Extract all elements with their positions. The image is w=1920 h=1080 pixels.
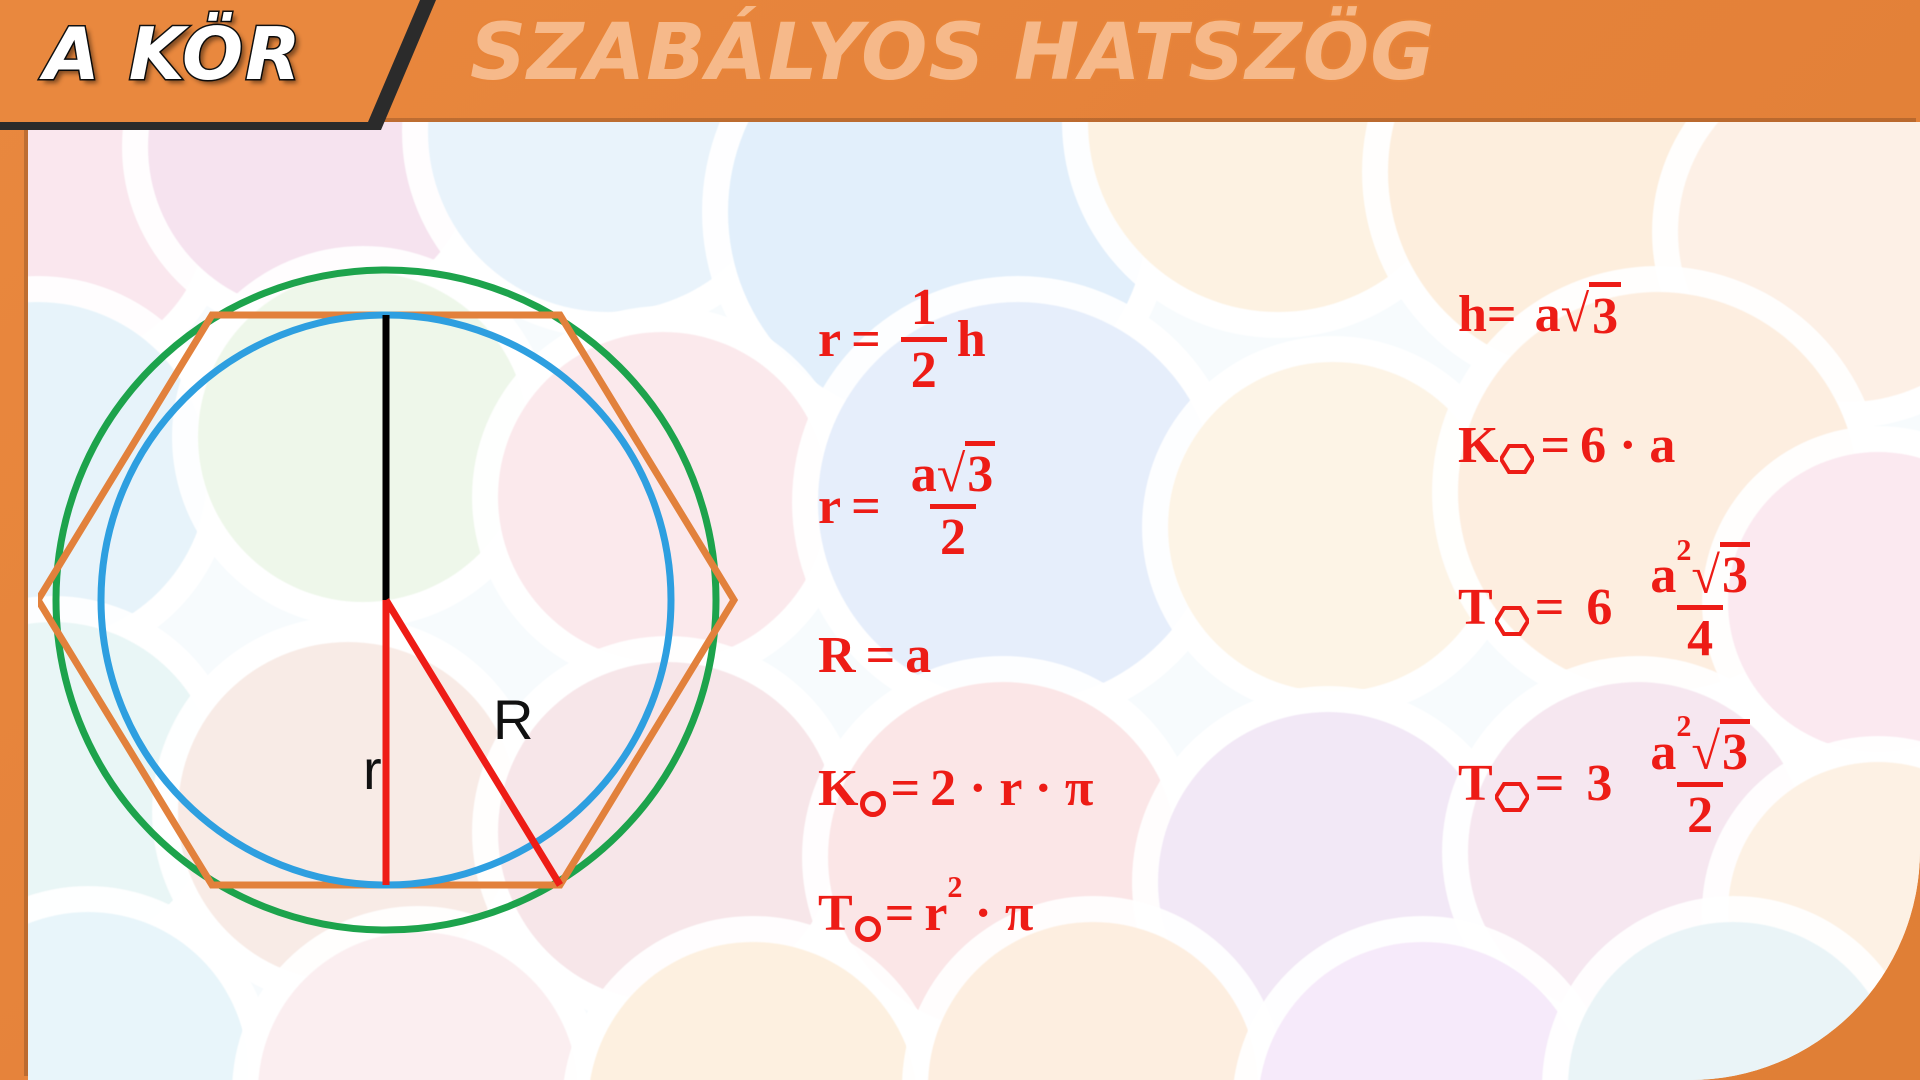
hexagon-formula-column: h = a√3 K = 6 · a — [1458, 282, 1920, 890]
formula-lhs-group: K — [1458, 416, 1540, 475]
formula-equals: = — [856, 626, 906, 685]
circle-subscript-icon — [860, 791, 886, 817]
radicand: 3 — [965, 441, 995, 503]
radicand: 3 — [1720, 542, 1750, 604]
formula-h-a-root3: h = a√3 — [1458, 282, 1920, 346]
formula-lhs-group: K — [818, 759, 890, 818]
formula-lhs: r — [818, 310, 841, 369]
radical-coefficient: a — [1517, 285, 1561, 344]
formula-K-hexagon: K = 6 · a — [1458, 416, 1920, 475]
formula-R-equals-a: R = a — [818, 626, 1238, 685]
slide-header: A KÖR SZABÁLYOS HATSZÖG — [0, 0, 1920, 128]
power-exponent: 2 — [947, 870, 962, 904]
hexagon-subscript-icon — [1500, 444, 1534, 474]
fraction-numerator: a√3 — [901, 449, 1006, 504]
formula-equals: = — [841, 310, 891, 369]
formula-lhs: K — [818, 759, 858, 818]
power-exponent: 2 — [1676, 533, 1691, 567]
fraction-numerator: a2√3 — [1640, 725, 1760, 781]
formula-lhs-group: T — [1458, 578, 1535, 637]
diagram-svg — [38, 192, 778, 1022]
formula-lhs: K — [1458, 416, 1498, 475]
formula-equals: = — [1540, 416, 1570, 475]
power-exponent: 2 — [1676, 709, 1691, 743]
label-R: R — [493, 687, 533, 752]
power-base-text: r — [924, 885, 947, 942]
formula-lhs: r — [818, 477, 841, 536]
power-base-text: a — [1650, 547, 1676, 604]
formula-rhs: a — [905, 626, 931, 685]
formula-rhs: 6 · a — [1570, 416, 1675, 475]
fraction-a2-root3-over-4: a2√3 4 — [1640, 549, 1760, 665]
radicand: 3 — [1720, 719, 1750, 781]
fraction-denominator: 2 — [1677, 782, 1723, 842]
radical-icon: √ — [1691, 724, 1720, 781]
slide-root: A KÖR SZABÁLYOS HATSZÖG — [0, 0, 1920, 1080]
formula-T-hexagon-6: T = 6 a2√3 4 — [1458, 549, 1920, 665]
radical-icon: √ — [1561, 285, 1590, 344]
formula-equals: = — [1535, 754, 1565, 813]
formula-equals: = — [1535, 578, 1565, 637]
radicand: 3 — [1589, 282, 1621, 346]
formula-equals: = — [1487, 285, 1517, 344]
radical-icon: √ — [937, 446, 966, 503]
formula-rhs: · π — [963, 884, 1034, 943]
formula-coefficient: 6 — [1564, 578, 1630, 637]
fraction-denominator: 2 — [901, 337, 947, 397]
formula-equals: = — [890, 759, 920, 818]
label-r: r — [363, 737, 382, 802]
formula-lhs: T — [1458, 578, 1493, 637]
fraction-a2-root3-over-2: a2√3 2 — [1640, 725, 1760, 841]
formula-coefficient: 3 — [1564, 754, 1630, 813]
formula-T-hexagon-3: T = 3 a2√3 2 — [1458, 725, 1920, 841]
fraction-numerator: a2√3 — [1640, 549, 1760, 605]
fraction-denominator: 4 — [1677, 605, 1723, 665]
formula-rhs: 2 · r · π — [920, 759, 1093, 818]
formula-lhs-group: T — [1458, 754, 1535, 813]
formula-lhs-group: T — [818, 884, 885, 943]
formula-power-base: r2 — [914, 884, 962, 943]
radical-icon: √ — [1691, 547, 1720, 604]
fraction-a-root3-over-2: a√3 2 — [901, 449, 1006, 564]
formula-tail: h — [957, 310, 986, 369]
power-base-text: a — [1650, 724, 1676, 781]
numerator-power: a2 — [1650, 547, 1691, 604]
fraction-one-half: 1 2 — [901, 282, 947, 397]
circle-subscript-icon — [855, 916, 881, 942]
numerator-power: a2 — [1650, 724, 1691, 781]
content-panel: R r r = 1 2 h r = a√3 — [28, 122, 1920, 1080]
fraction-denominator: 2 — [930, 504, 976, 564]
formula-K-circle: K = 2 · r · π — [818, 759, 1238, 818]
formula-lhs: R — [818, 626, 856, 685]
formula-r-a-root3-over-2: r = a√3 2 — [818, 449, 1238, 564]
formula-r-half-h: r = 1 2 h — [818, 282, 1238, 397]
fraction-numerator: 1 — [901, 282, 947, 337]
formula-equals: = — [841, 477, 891, 536]
numerator-base: a — [911, 446, 937, 503]
geometry-diagram: R r — [38, 192, 778, 1022]
page-title: SZABÁLYOS HATSZÖG — [470, 8, 1435, 98]
formula-lhs: T — [818, 884, 853, 943]
circle-formula-column: r = 1 2 h r = a√3 2 — [818, 282, 1238, 995]
hexagon-subscript-icon — [1495, 606, 1529, 636]
formula-lhs: T — [1458, 754, 1493, 813]
hexagon-subscript-icon — [1495, 782, 1529, 812]
tag-label: A KÖR — [44, 12, 303, 96]
formula-equals: = — [885, 884, 915, 943]
circumradius-segment-shape — [386, 600, 560, 885]
formula-T-circle: T = r2 · π — [818, 884, 1238, 943]
formula-lhs: h — [1458, 285, 1487, 344]
